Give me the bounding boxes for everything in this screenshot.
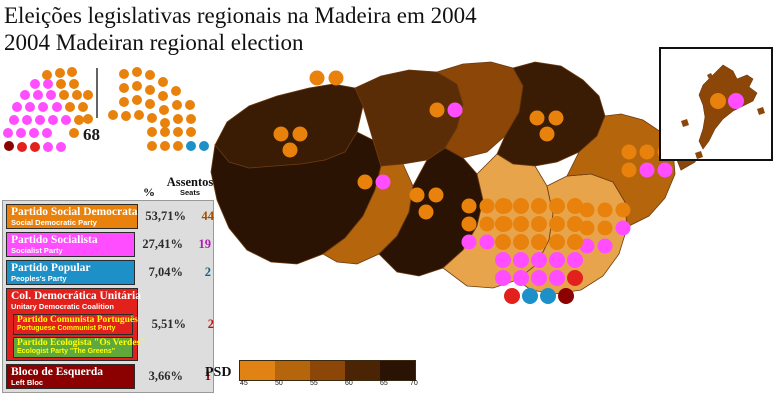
sub-party-pcp: Partido Comunista Português Portuguese C… <box>13 314 133 335</box>
scale-tick-4: 65 <box>380 380 388 387</box>
scale-cell-65-70 <box>380 361 415 380</box>
party-swatch-cdu: Col. Democrática Unitária Unitary Democr… <box>6 288 138 361</box>
party-name-en: Peoples's Party <box>11 274 131 283</box>
parliament-right-arc <box>108 67 209 151</box>
results-table-header: % Assentos Seats <box>2 178 214 200</box>
table-row: Partido Social Democrata Social Democrat… <box>6 204 211 229</box>
parliament-svg <box>0 62 230 162</box>
party-percent: 5,51% <box>138 317 186 332</box>
dots-porto-moniz <box>310 71 344 86</box>
page-title-pt: Eleições legislativas regionais na Madei… <box>4 2 477 29</box>
scale-strip <box>239 360 416 381</box>
dots-santa-cruz-lower <box>580 203 631 254</box>
psd-color-scale: PSD 45 50 55 60 65 70 <box>205 355 455 395</box>
inset-svg <box>661 49 771 159</box>
islet-east <box>757 107 765 115</box>
region-porto-santo <box>699 65 757 149</box>
inset-dot-psd <box>710 93 726 109</box>
map-svg <box>205 40 705 385</box>
islet-west <box>681 119 689 127</box>
table-row: Bloco de Esquerda Left Bloc 3,66% 1 <box>6 364 211 389</box>
scale-tick-2: 55 <box>310 380 318 387</box>
party-name-en: Socialist Party <box>11 246 131 255</box>
party-name-pt: Bloco de Esquerda <box>11 366 131 378</box>
scale-tick-3: 60 <box>345 380 353 387</box>
party-percent: 3,66% <box>135 369 183 384</box>
party-numbers: 3,66% 1 <box>135 364 211 389</box>
scale-tick-1: 50 <box>275 380 283 387</box>
coalition-header: Col. Democrática Unitária Unitary Democr… <box>9 290 135 312</box>
scale-cell-55-60 <box>310 361 345 380</box>
scale-cell-45-50 <box>240 361 275 380</box>
madeira-choropleth-map <box>205 40 705 385</box>
party-name-pt: Partido Socialista <box>11 234 131 246</box>
party-numbers: 27,41% 19 <box>135 232 211 257</box>
table-row: Partido Popular Peoples's Party 7,04% 2 <box>6 260 211 285</box>
scale-cell-60-65 <box>345 361 380 380</box>
party-numbers: 53,71% 44 <box>138 204 214 229</box>
party-swatch-be: Bloco de Esquerda Left Bloc <box>6 364 135 389</box>
islet-south <box>695 151 703 159</box>
scale-tick-0: 45 <box>240 380 248 387</box>
scale-label: PSD <box>205 365 231 381</box>
scale-cell-50-55 <box>275 361 310 380</box>
party-percent: 27,41% <box>135 237 183 252</box>
results-table-body: Partido Social Democrata Social Democrat… <box>2 200 214 393</box>
party-swatch-ps: Partido Socialista Socialist Party <box>6 232 135 257</box>
parliament-left-arc <box>3 67 93 152</box>
sub-party-name-en: Ecologist Party "The Greens" <box>17 348 130 356</box>
party-name-en: Social Democratic Party <box>11 218 134 227</box>
party-percent: 53,71% <box>138 209 186 224</box>
table-row: Col. Democrática Unitária Unitary Democr… <box>6 288 211 361</box>
sub-party-name-pt: Partido Comunista Português <box>17 315 130 325</box>
party-numbers: 7,04% 2 <box>135 260 211 285</box>
party-percent: 7,04% <box>135 265 183 280</box>
porto-santo-inset-map <box>659 47 773 161</box>
party-name-pt: Partido Popular <box>11 262 131 274</box>
parliament-total-seats: 68 <box>83 125 100 145</box>
party-name-en: Left Bloc <box>11 378 131 387</box>
party-swatch-pp: Partido Popular Peoples's Party <box>6 260 135 285</box>
inset-dot-ps <box>728 93 744 109</box>
header-percent: % <box>143 185 155 200</box>
party-name-pt: Partido Social Democrata <box>11 206 134 218</box>
party-numbers: 5,51% 2 <box>138 288 214 361</box>
parliament-seat-diagram <box>0 62 230 162</box>
table-row: Partido Socialista Socialist Party 27,41… <box>6 232 211 257</box>
results-table: % Assentos Seats Partido Social Democrat… <box>2 178 214 393</box>
party-swatch-psd: Partido Social Democrata Social Democrat… <box>6 204 138 229</box>
sub-party-pev: Partido Ecologista "Os Verdes" Ecologist… <box>13 337 133 358</box>
sub-party-name-pt: Partido Ecologista "Os Verdes" <box>17 338 130 348</box>
map-regions <box>211 62 701 294</box>
sub-party-name-en: Portuguese Communist Party <box>17 325 130 333</box>
scale-tick-5: 70 <box>410 380 418 387</box>
party-name-en: Unitary Democratic Coalition <box>11 302 134 311</box>
party-name-pt: Col. Democrática Unitária <box>11 290 134 302</box>
